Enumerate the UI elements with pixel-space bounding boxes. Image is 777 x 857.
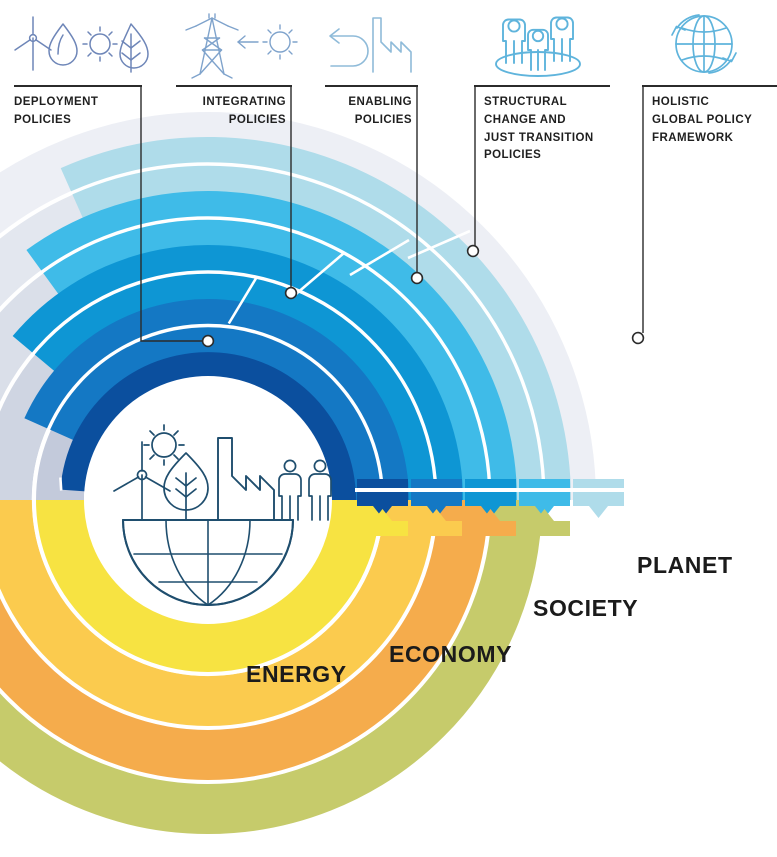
wind-water-solar-bio-icon [15,17,148,72]
callout-line: ENABLING [322,94,412,112]
person-left-icon [503,20,525,64]
ring-label-economy: ECONOMY [389,641,512,668]
globe-icon [676,16,732,72]
callout-line: HOLISTIC [652,94,777,112]
callout-line: CHANGE AND [484,112,616,130]
callout-line: POLICIES [166,112,286,130]
sun-icon [263,25,297,59]
person-right-icon [551,18,573,62]
infographic-page: DEPLOYMENT POLICIES INTEGRATING POLICIES… [0,0,777,857]
callout-deployment-policies[interactable]: DEPLOYMENT POLICIES [14,94,144,130]
globe-recycle-icon [672,15,736,73]
callout-holistic-global-policy-framework[interactable]: HOLISTIC GLOBAL POLICY FRAMEWORK [652,94,777,147]
people-group-icon [496,18,580,77]
blue-strip-upper [357,479,624,488]
connector-dot-integrating [286,288,297,299]
callout-line: FRAMEWORK [652,130,777,148]
left-arrow-icon [238,36,258,48]
wind-turbine-icon [15,17,51,70]
callout-line: POLICIES [322,112,412,130]
ring-label-planet: PLANET [637,552,733,579]
chevron-blue-5 [573,492,624,518]
ring-label-energy: ENERGY [246,661,347,688]
callout-line: GLOBAL POLICY [652,112,777,130]
sun-icon [83,27,117,61]
pylon-arrow-sun-icon [186,14,297,78]
leaf-icon [120,24,148,72]
connector-dot-enabling [412,273,423,284]
connector-dot-structural [468,246,479,257]
connector-dot-deployment [203,336,214,347]
water-droplet-icon [49,24,77,65]
callout-line: DEPLOYMENT [14,94,144,112]
factory-icon [373,18,411,72]
callout-line: JUST TRANSITION [484,130,616,148]
person-center-icon [528,30,548,70]
callout-line: STRUCTURAL [484,94,616,112]
connector-dot-holistic [633,333,644,344]
callout-enabling-policies[interactable]: ENABLING POLICIES [322,94,412,130]
callout-line: INTEGRATING [166,94,286,112]
callout-line: POLICIES [484,147,616,165]
callout-integrating-policies[interactable]: INTEGRATING POLICIES [166,94,286,130]
transmission-pylon-icon [186,14,238,78]
circular-arrow-factory-icon [330,18,411,72]
callout-structural-change-just-transition-policies[interactable]: STRUCTURAL CHANGE AND JUST TRANSITION PO… [484,94,616,165]
divider-bands-group [355,479,627,536]
callout-line: POLICIES [14,112,144,130]
ring-label-society: SOCIETY [533,595,638,622]
